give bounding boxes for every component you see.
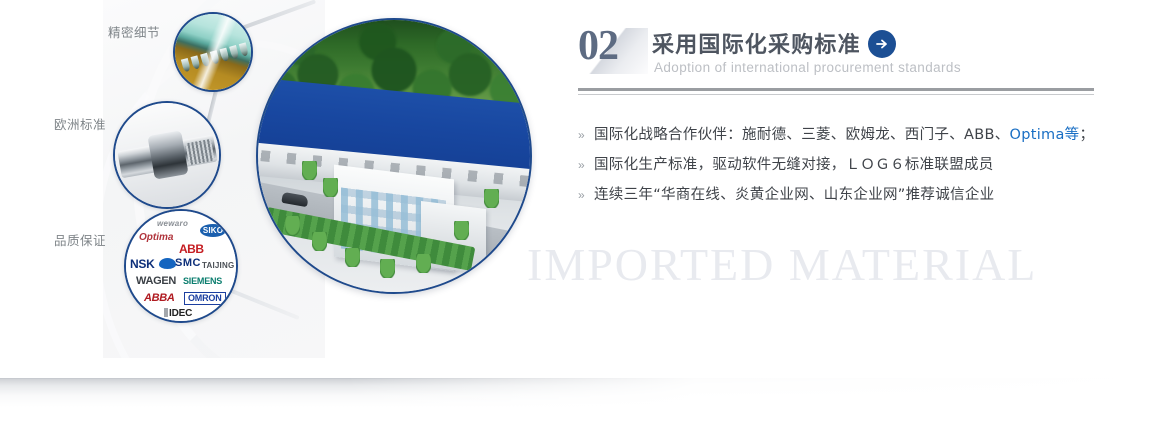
logo-idec-text: IDEC	[169, 308, 192, 319]
logo-idec: IDEC	[164, 308, 192, 319]
chevron-double-right-icon: »	[578, 154, 594, 176]
section-header: 02 采用国际化采购标准 Adoption of international p…	[578, 24, 1098, 88]
list-item-text: 连续三年“华商在线、炎黄企业网、山东企业网”推荐诚信企业	[594, 184, 994, 206]
arrow-right-icon[interactable]	[868, 30, 896, 58]
logo-nsk: NSK	[130, 258, 154, 270]
factory-tree-decor	[323, 178, 338, 197]
section-title-cn: 采用国际化采购标准	[652, 27, 861, 59]
brand-logos-collage: wewaro SIKO Optima ABB NSK SMC TAIJING W…	[124, 209, 238, 323]
promo-banner: wewaro SIKO Optima ABB NSK SMC TAIJING W…	[0, 0, 1150, 430]
list-item-text: 国际化战略合作伙伴：施耐德、三菱、欧姆龙、西门子、ABB、Optima等；	[594, 124, 1094, 146]
gear-detail-photo	[173, 12, 253, 92]
bullet-text-tail: ；	[1079, 127, 1094, 143]
list-item-text: 国际化生产标准，驱动软件无缝对接，ＬＯＧ６标准联盟成员	[594, 154, 994, 176]
bottom-gradient-band	[0, 378, 1150, 412]
section-content: 02 采用国际化采购标准 Adoption of international p…	[578, 24, 1098, 88]
ball-screw-photo	[113, 101, 221, 209]
factory-aerial-photo	[256, 18, 532, 294]
watermark-text: IMPORTED MATERIAL	[527, 238, 1037, 291]
list-item: » 国际化生产标准，驱动软件无缝对接，ＬＯＧ６标准联盟成员	[578, 154, 1098, 184]
factory-tree-decor	[285, 216, 300, 235]
factory-tree-decor	[380, 259, 395, 278]
logo-weward: wewaro	[157, 220, 188, 228]
factory-tree-decor	[484, 189, 499, 208]
factory-tree-decor	[312, 232, 327, 251]
factory-tree-decor	[454, 221, 469, 240]
logo-wagen: WAGEN	[136, 276, 176, 287]
label-quality-assurance: 品质保证	[54, 230, 106, 249]
logo-siko: SIKO	[200, 224, 226, 237]
logo-abba: ABBA	[144, 293, 175, 304]
header-divider	[578, 88, 1094, 95]
divider-thick-line	[578, 88, 1094, 91]
logo-smc: SMC	[175, 258, 201, 269]
chevron-double-right-icon: »	[578, 124, 594, 146]
logo-siemens: SIEMENS	[183, 277, 222, 286]
brand-logos-image: wewaro SIKO Optima ABB NSK SMC TAIJING W…	[126, 211, 236, 321]
label-precision-detail: 精密细节	[108, 22, 160, 41]
screw-nut-decor	[147, 130, 188, 179]
bullet-text-main: 国际化战略合作伙伴：施耐德、三菱、欧姆龙、西门子、ABB、	[594, 127, 1010, 143]
section-number: 02	[578, 22, 618, 70]
bullet-text-highlight: Optima等	[1010, 127, 1080, 143]
factory-tree-decor	[302, 161, 317, 180]
logo-abb: ABB	[179, 243, 204, 255]
logo-omron: OMRON	[184, 292, 226, 305]
factory-tree-decor	[416, 254, 431, 273]
factory-tree-decor	[345, 248, 360, 267]
chevron-double-right-icon: »	[578, 184, 594, 206]
feature-bullet-list: » 国际化战略合作伙伴：施耐德、三菱、欧姆龙、西门子、ABB、Optima等； …	[578, 124, 1098, 214]
screw-thread-decor	[185, 139, 214, 165]
divider-thin-line	[578, 94, 1094, 95]
logo-optima: Optima	[139, 233, 173, 243]
bullet-text-main: 国际化生产标准，驱动软件无缝对接，ＬＯＧ６标准联盟成员	[594, 157, 994, 173]
logo-taijing: TAIJING	[202, 262, 234, 270]
bullet-text-main: 连续三年“华商在线、炎黄企业网、山东企业网”推荐诚信企业	[594, 187, 994, 203]
section-title-en: Adoption of international procurement st…	[654, 60, 961, 75]
label-european-standard: 欧洲标准	[54, 114, 106, 133]
logo-smc-dot-icon	[159, 258, 176, 269]
logo-optima-text: Optima	[139, 232, 173, 243]
list-item: » 连续三年“华商在线、炎黄企业网、山东企业网”推荐诚信企业	[578, 184, 1098, 214]
list-item: » 国际化战略合作伙伴：施耐德、三菱、欧姆龙、西门子、ABB、Optima等；	[578, 124, 1098, 154]
